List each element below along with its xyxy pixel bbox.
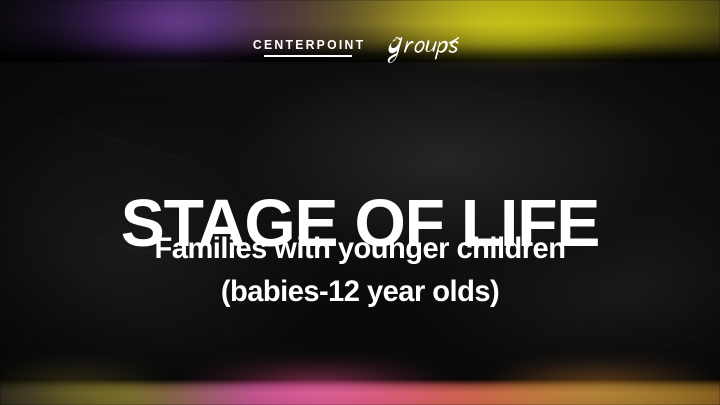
- horizontal-rule-icon: [264, 55, 352, 57]
- centerpoint-wordmark-group: CENTERPOINT: [247, 38, 369, 58]
- subtitle: Families with younger children (babies-1…: [11, 228, 709, 313]
- subtitle-line-1: Families with younger children: [11, 228, 709, 271]
- groups-script-logo: [381, 27, 473, 67]
- slide-content: CENTERPOINT: [0, 0, 720, 405]
- subtitle-line-2: (babies-12 year olds): [11, 271, 709, 314]
- centerpoint-wordmark: CENTERPOINT: [250, 38, 365, 51]
- logo-lockup: CENTERPOINT: [0, 29, 720, 67]
- announcement-slide: CENTERPOINT: [0, 0, 720, 405]
